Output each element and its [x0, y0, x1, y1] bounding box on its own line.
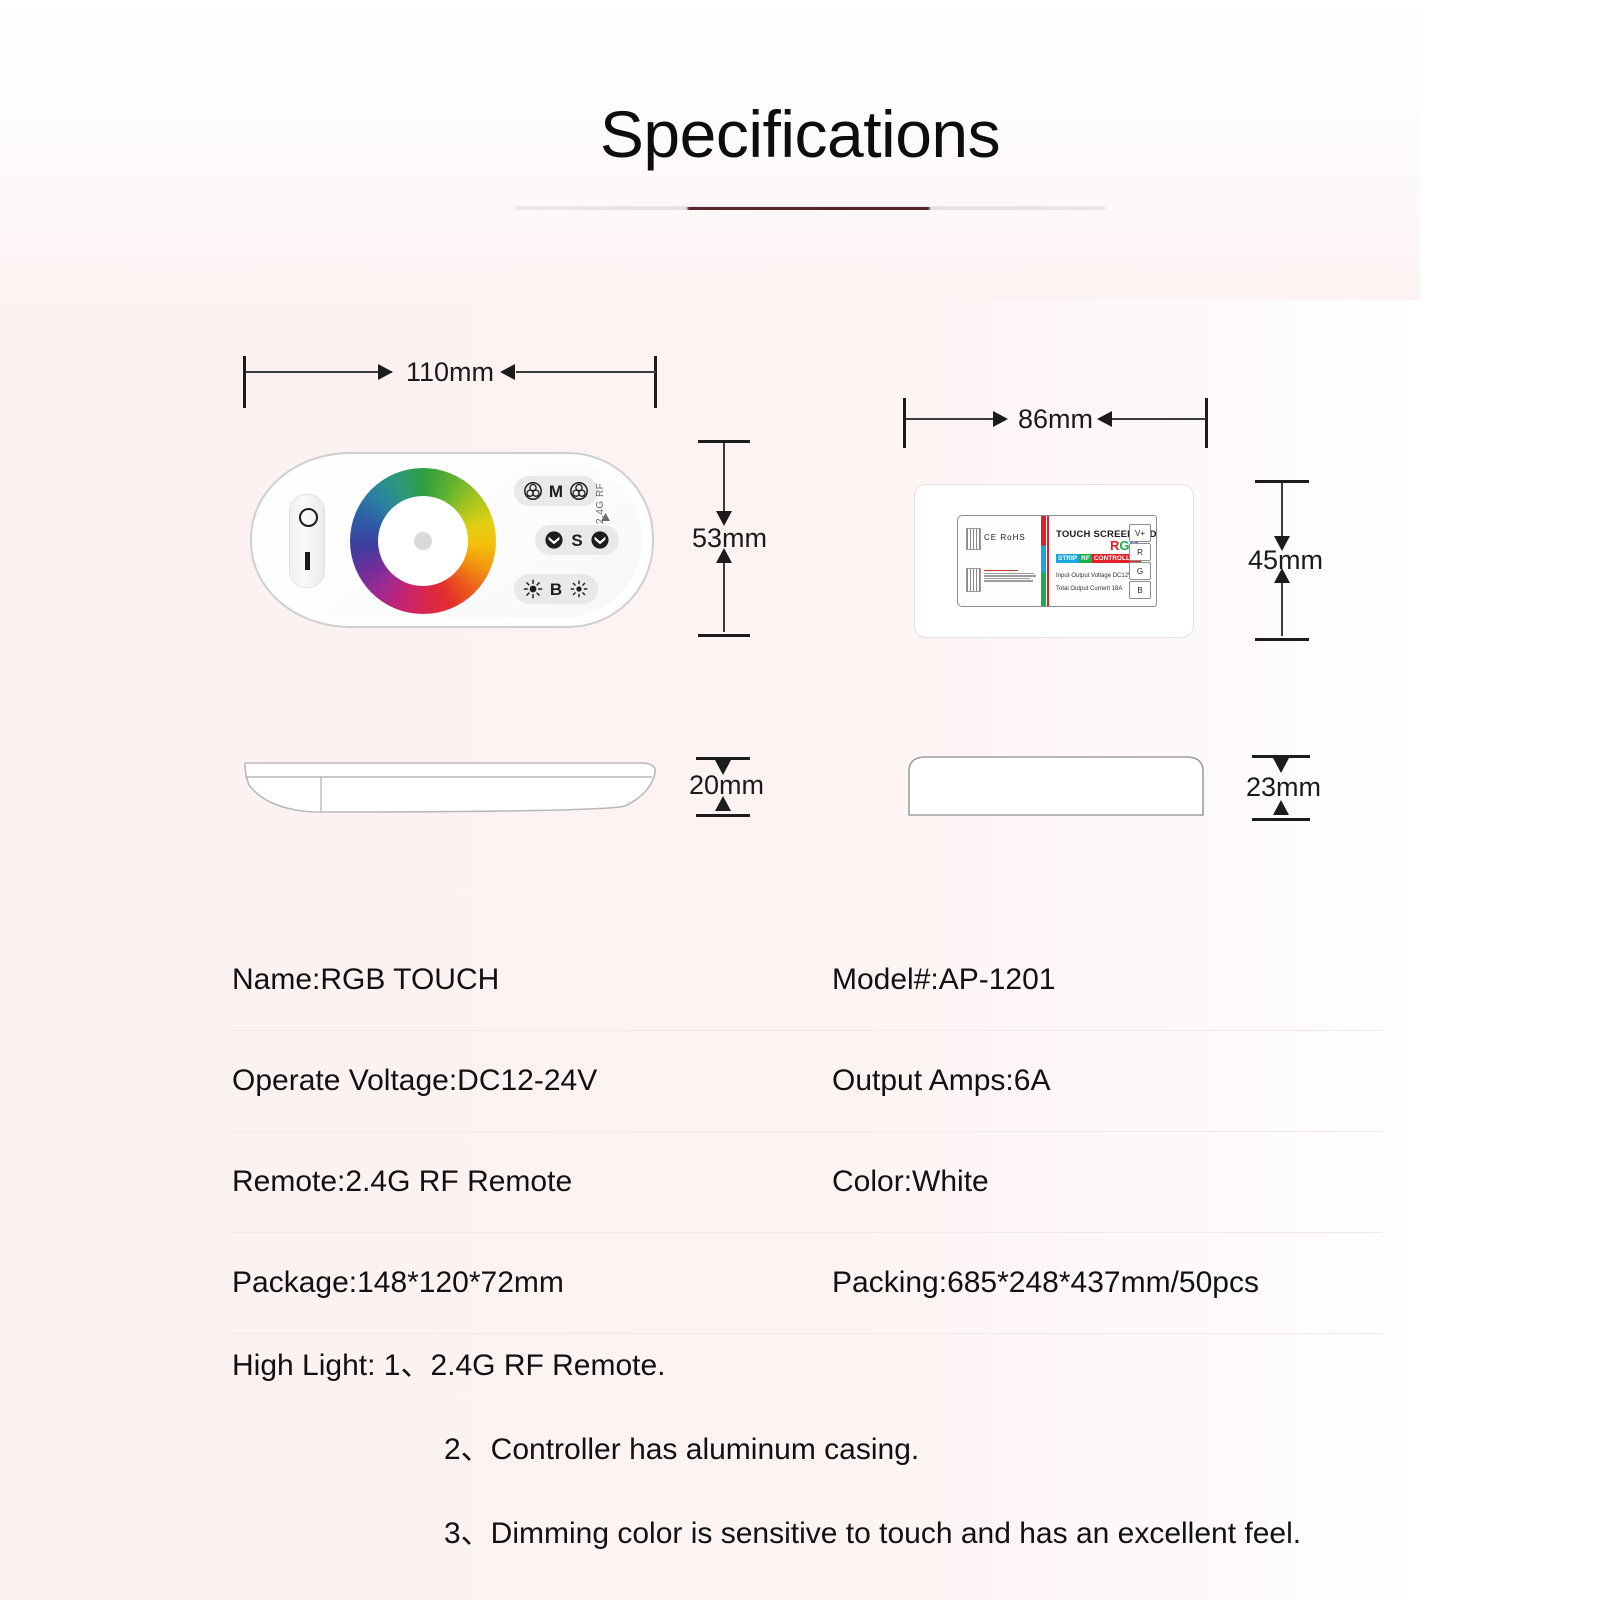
- mode-prev-icon[interactable]: [523, 481, 543, 501]
- brightness-up-icon[interactable]: [569, 579, 589, 599]
- rgb-letter-r: R: [1110, 538, 1119, 553]
- page-title: Specifications: [0, 96, 1600, 172]
- controller-color-stripe: [1041, 516, 1046, 606]
- high-light-line-2: 2、Controller has aluminum casing.: [232, 1424, 1412, 1468]
- spec-remote: Remote:2.4G RF Remote: [232, 1165, 832, 1199]
- barcode-block-top: [966, 528, 981, 550]
- remote-height-line-bottom: [723, 560, 725, 632]
- certification-marks: CE RoHS: [984, 533, 1026, 542]
- rgb-strip-controller: CE RoHS TOUCH SCREEN LED RGB STRIPRFCONT…: [914, 484, 1194, 638]
- table-row: Remote:2.4G RF Remote Color:White: [232, 1132, 1382, 1233]
- remote-width-label: 110mm: [406, 357, 494, 388]
- brightness-button-letter: B: [550, 581, 562, 598]
- barcode-block-bottom: [966, 568, 981, 592]
- spec-amps: Output Amps:6A: [832, 1064, 1382, 1098]
- controller-width-label: 86mm: [1018, 404, 1093, 435]
- remote-width-line-left: [246, 371, 392, 373]
- controller-thickness-tick-bottom: [1252, 818, 1310, 821]
- remote-side-profile: [243, 757, 660, 814]
- remote-width-tick-left: [243, 356, 246, 408]
- remote-height-tick-bottom: [698, 634, 750, 637]
- table-row: Package:148*120*72mm Packing:685*248*437…: [232, 1233, 1382, 1334]
- brightness-button-group[interactable]: B: [514, 574, 598, 604]
- controller-height-label: 45mm: [1248, 545, 1323, 576]
- remote-width-arrow-left: [378, 364, 393, 380]
- controller-width-tick-right: [1205, 398, 1208, 448]
- controller-red-stripe: [1047, 516, 1049, 606]
- controller-thickness-label: 23mm: [1246, 772, 1321, 803]
- spec-packing: Packing:685*248*437mm/50pcs: [832, 1266, 1382, 1300]
- remote-width-line-right: [516, 371, 656, 373]
- power-on-icon: [305, 552, 310, 570]
- speed-button-group[interactable]: S: [535, 525, 619, 555]
- terminal-b[interactable]: B: [1129, 581, 1151, 599]
- mode-button-group[interactable]: M: [514, 476, 598, 506]
- remote-height-line-top: [723, 443, 725, 515]
- high-light-section: High Light: 1、2.4G RF Remote. 2、Controll…: [232, 1340, 1412, 1592]
- controller-height-line-top: [1281, 483, 1283, 541]
- rf-frequency-label: 2.4G RF: [595, 483, 606, 524]
- remote-width-tick-right: [654, 356, 657, 408]
- spec-model: Model#:AP-1201: [832, 963, 1382, 997]
- power-off-icon: [299, 508, 318, 527]
- brightness-down-icon[interactable]: [523, 579, 543, 599]
- fine-print-lines: [984, 570, 1036, 582]
- table-row: Operate Voltage:DC12-24V Output Amps:6A: [232, 1031, 1382, 1132]
- controller-height-tick-bottom: [1255, 638, 1309, 641]
- color-wheel-inner: [378, 496, 468, 586]
- mode-next-icon[interactable]: [569, 481, 589, 501]
- speed-button-letter: S: [571, 532, 582, 549]
- controller-current-line: Total Output Current 18A: [1056, 586, 1122, 592]
- spec-color: Color:White: [832, 1165, 1382, 1199]
- rgb-touch-remote: M S: [250, 452, 654, 628]
- rgb-color-wheel[interactable]: [350, 468, 496, 614]
- spec-voltage: Operate Voltage:DC12-24V: [232, 1064, 832, 1098]
- controller-label-plate: CE RoHS TOUCH SCREEN LED RGB STRIPRFCONT…: [957, 515, 1157, 607]
- title-rule: [515, 207, 1105, 210]
- controller-width-arrow-left: [993, 411, 1008, 427]
- table-row: Name:RGB TOUCH Model#:AP-1201: [232, 930, 1382, 1031]
- terminal-g[interactable]: G: [1129, 562, 1151, 580]
- speed-down-icon[interactable]: [544, 530, 564, 550]
- remote-height-label: 53mm: [692, 523, 767, 554]
- mode-button-letter: M: [549, 483, 563, 500]
- controller-thickness-arrow-top: [1273, 758, 1289, 773]
- controller-side-profile: [906, 753, 1211, 818]
- terminal-v-plus[interactable]: V+: [1129, 524, 1151, 542]
- high-light-line-1: High Light: 1、2.4G RF Remote.: [232, 1340, 1412, 1384]
- speed-up-icon[interactable]: [590, 530, 610, 550]
- type-bar-strip: STRIP: [1056, 554, 1079, 563]
- controller-height-line-bottom: [1281, 580, 1283, 636]
- spec-package: Package:148*120*72mm: [232, 1266, 832, 1300]
- specifications-table: Name:RGB TOUCH Model#:AP-1201 Operate Vo…: [232, 930, 1382, 1334]
- spec-name: Name:RGB TOUCH: [232, 963, 832, 997]
- controller-width-line-right: [1112, 418, 1206, 420]
- controller-width-arrow-right: [1097, 411, 1112, 427]
- controller-width-tick-left: [903, 398, 906, 448]
- high-light-line-3: 3、Dimming color is sensitive to touch an…: [232, 1508, 1412, 1552]
- power-switch[interactable]: [289, 494, 325, 588]
- remote-thickness-label: 20mm: [689, 770, 764, 801]
- remote-thickness-tick-bottom: [696, 814, 750, 817]
- controller-width-line-left: [906, 418, 1002, 420]
- touch-center-dot[interactable]: [414, 532, 432, 550]
- terminal-r[interactable]: R: [1129, 543, 1151, 561]
- type-bar-rf: RF: [1079, 554, 1092, 563]
- remote-width-arrow-right: [500, 364, 515, 380]
- rgb-letter-g: G: [1119, 538, 1129, 553]
